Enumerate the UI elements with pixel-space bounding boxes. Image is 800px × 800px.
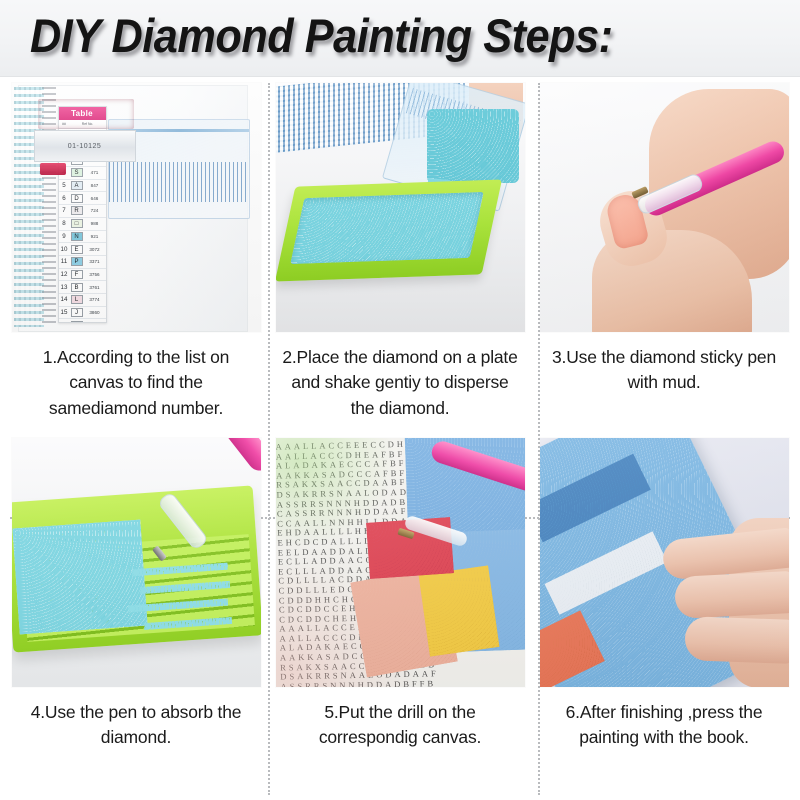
step-caption-1: 1.According to the list on canvas to fin… — [14, 345, 259, 421]
pink-diamonds — [38, 99, 134, 129]
row-code: 724 — [84, 208, 106, 213]
pen-picking-up-diamond-photo — [12, 438, 261, 687]
step-card-5: AAALLACCEEECCDHEAFAALLACCCDHEAFBFBFAALAD… — [268, 438, 532, 793]
steps-row-1: Table ## Ref No. 1■3942■3503C4534S4715A8… — [4, 83, 796, 438]
row-symbol: L — [71, 295, 83, 304]
row-code: 988 — [84, 221, 106, 226]
row-index: 5 — [59, 182, 70, 189]
color-table-row: 8□988 — [59, 218, 106, 231]
row-symbol: D — [71, 194, 83, 203]
row-code: 3761 — [84, 285, 106, 290]
row-symbol: E — [71, 245, 83, 254]
color-table-row: 13B3761 — [59, 281, 106, 294]
pressing-finished-painting-photo — [540, 438, 789, 687]
row-symbol: J — [71, 308, 83, 317]
row-code: 847 — [84, 183, 106, 188]
row-code: 3072 — [84, 247, 106, 252]
page-title: DIY Diamond Painting Steps: — [30, 8, 613, 63]
row-code: 921 — [84, 234, 106, 239]
color-chart-and-diamond-bag-photo: Table ## Ref No. 1■3942■3503C4534S4715A8… — [12, 83, 261, 332]
steps-row-2: 4.Use the pen to absorb the diamond. AAA… — [4, 438, 796, 793]
row-code: 646 — [84, 196, 106, 201]
row-index: 12 — [59, 271, 70, 278]
step-card-6: 6.After finishing ,press the painting wi… — [532, 438, 796, 793]
row-code: 471 — [84, 170, 106, 175]
diamonds-in-tray — [290, 192, 484, 264]
color-table-row: 16H3806 — [59, 319, 106, 323]
row-symbol: S — [71, 168, 83, 177]
row-index: 10 — [59, 246, 70, 253]
yellow-diamond-area — [418, 566, 499, 657]
bag-hatch-pattern — [109, 162, 249, 202]
row-index: 13 — [59, 284, 70, 291]
row-symbol: F — [71, 270, 83, 279]
color-table-row: 14L3774 — [59, 294, 106, 307]
row-code: 3371 — [84, 259, 106, 264]
diy-diamond-painting-instruction-sheet: DIY Diamond Painting Steps: Table ## Ref — [0, 0, 800, 800]
row-code: 3860 — [84, 310, 106, 315]
placing-drill-on-canvas-photo: AAALLACCEEECCDHEAFAALLACCCDHEAFBFBFAALAD… — [276, 438, 525, 687]
color-table-row: 6D646 — [59, 192, 106, 205]
row-symbol: P — [71, 257, 83, 266]
row-code: 3756 — [84, 272, 106, 277]
color-table-row: 4S471 — [59, 167, 106, 180]
row-symbol: R — [71, 206, 83, 215]
steps-grid: Table ## Ref No. 1■3942■3503C4534S4715A8… — [0, 77, 800, 800]
color-table-row: 12F3756 — [59, 269, 106, 282]
color-table-row: 5A847 — [59, 180, 106, 193]
color-table-row: 10E3072 — [59, 243, 106, 256]
step-card-2: 2.Place the diamond on a plate and shake… — [268, 83, 532, 438]
row-index: 8 — [59, 220, 70, 227]
color-table-row: 9N921 — [59, 231, 106, 244]
row-symbol: H — [71, 321, 83, 323]
finger-2 — [673, 571, 788, 619]
step-card-3: 3.Use the diamond sticky pen with mud. — [532, 83, 796, 438]
color-table-row: 15J3860 — [59, 307, 106, 320]
row-code: 3774 — [84, 297, 106, 302]
row-symbol: N — [71, 232, 83, 241]
step-caption-5: 5.Put the drill on the correspondig canv… — [278, 700, 523, 751]
step-caption-4: 4.Use the pen to absorb the diamond. — [14, 700, 259, 751]
bag-label: 01-10125 — [34, 130, 136, 162]
color-table-row: 11P3371 — [59, 256, 106, 269]
finger-3 — [684, 616, 789, 664]
pen-with-wax-mud-photo — [540, 83, 789, 332]
row-index: 15 — [59, 309, 70, 316]
row-index: 7 — [59, 207, 70, 214]
row-symbol: □ — [71, 219, 83, 228]
step-card-4: 4.Use the pen to absorb the diamond. — [4, 438, 268, 793]
pink-pen-body — [183, 438, 260, 475]
diamond-pile — [12, 520, 147, 635]
row-symbol: B — [71, 283, 83, 292]
pouring-diamonds-into-tray-photo — [276, 83, 525, 332]
step-caption-3: 3.Use the diamond sticky pen with mud. — [542, 345, 787, 396]
pink-diamonds-spill — [40, 163, 66, 175]
row-index: 6 — [59, 195, 70, 202]
header-banner: DIY Diamond Painting Steps: — [0, 0, 800, 77]
color-table-row: 7R724 — [59, 205, 106, 218]
row-index: 14 — [59, 296, 70, 303]
step-caption-6: 6.After finishing ,press the painting wi… — [542, 700, 787, 751]
row-index: 9 — [59, 233, 70, 240]
row-index: 11 — [59, 258, 70, 265]
step-caption-2: 2.Place the diamond on a plate and shake… — [278, 345, 523, 421]
diamonds-in-bag — [427, 109, 519, 183]
row-index: 16 — [59, 322, 70, 323]
step-card-1: Table ## Ref No. 1■3942■3503C4534S4715A8… — [4, 83, 268, 438]
row-symbol: A — [71, 181, 83, 190]
